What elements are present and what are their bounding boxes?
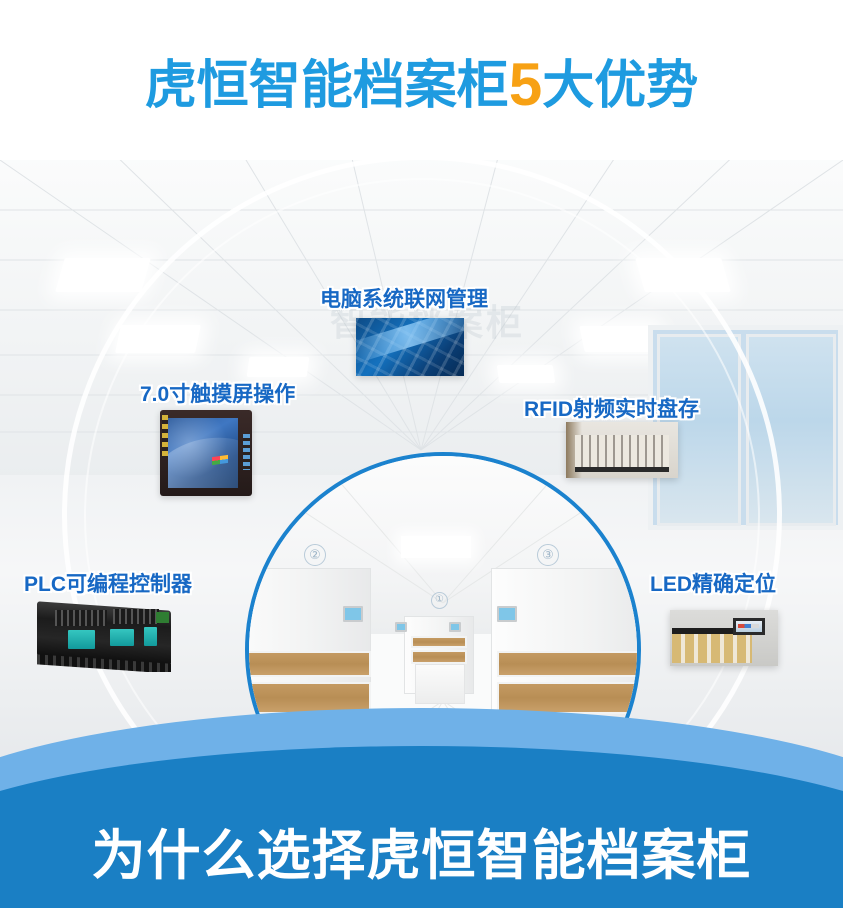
- ceiling-light: [497, 365, 556, 383]
- cabinet-shelf: [249, 651, 371, 677]
- plc-display-panel: [68, 630, 95, 649]
- plc-green-connector: [156, 612, 170, 624]
- bottom-banner-text: 为什么选择虎恒智能档案柜: [0, 811, 843, 890]
- cabinet-screen: [449, 622, 461, 632]
- plc-terminal-strip: [113, 609, 159, 625]
- led-display-bars: [738, 624, 759, 628]
- cabinet-number: ①: [431, 592, 448, 609]
- feature-label-rfid-inventory: RFID射频实时盘存: [524, 393, 699, 423]
- plc-display-panel: [110, 629, 134, 646]
- page-title-suffix: 大优势: [542, 57, 698, 115]
- page-title-number: 5: [509, 51, 542, 118]
- ceiling-light: [55, 258, 151, 292]
- feature-thumbnail-led-positioning: [670, 610, 778, 666]
- feature-label-computer-network-management: 电脑系统联网管理: [320, 283, 488, 313]
- feature-label-led-positioning: LED精确定位: [650, 568, 776, 598]
- ceiling-light: [115, 325, 201, 353]
- cabinet-screen: [395, 622, 407, 632]
- page-title: 虎恒智能档案柜5大优势: [145, 45, 698, 115]
- cabinet-screen: [343, 606, 363, 622]
- ceiling-light: [247, 357, 310, 377]
- cabinet-screen: [497, 606, 517, 622]
- cabinet-shelf: [411, 650, 467, 664]
- product-feature-infographic: 虎恒智能档案柜5大优势: [0, 0, 843, 908]
- window-pane: [746, 334, 836, 526]
- touch-panel-screen: [168, 418, 238, 488]
- feature-thumbnail-touchscreen: [160, 410, 252, 496]
- cabinet-shelf: [411, 636, 467, 648]
- feature-label-plc-controller: PLC可编程控制器: [24, 568, 192, 598]
- feature-thumbnail-rfid-inventory: [566, 422, 678, 478]
- file-folders: [575, 435, 669, 472]
- cabinet-number: ②: [304, 544, 326, 566]
- bottom-banner: 为什么选择虎恒智能档案柜: [0, 708, 843, 908]
- plc-terminal-strip: [55, 610, 107, 626]
- feature-thumbnail-plc-controller: [28, 600, 180, 672]
- keyboard-light-glint: [356, 318, 464, 365]
- page-title-prefix: 虎恒智能档案柜: [145, 57, 509, 115]
- center-photo-ceiling-light: [401, 536, 471, 558]
- cabinet-shelf: [497, 651, 637, 677]
- panel-side-buttons: [243, 434, 250, 470]
- feature-label-touchscreen: 7.0寸触摸屏操作: [140, 378, 295, 408]
- feature-thumbnail-computer-network-management: [356, 318, 464, 376]
- plc-display-panel: [144, 627, 158, 646]
- led-indicator-display: [733, 618, 765, 635]
- cabinet-desk: [415, 664, 465, 704]
- ceiling-light: [635, 258, 731, 292]
- panel-left-strip: [162, 415, 168, 458]
- cabinet-number: ③: [537, 544, 559, 566]
- windows-logo-icon: [212, 455, 228, 473]
- header-band: 虎恒智能档案柜5大优势: [0, 0, 843, 160]
